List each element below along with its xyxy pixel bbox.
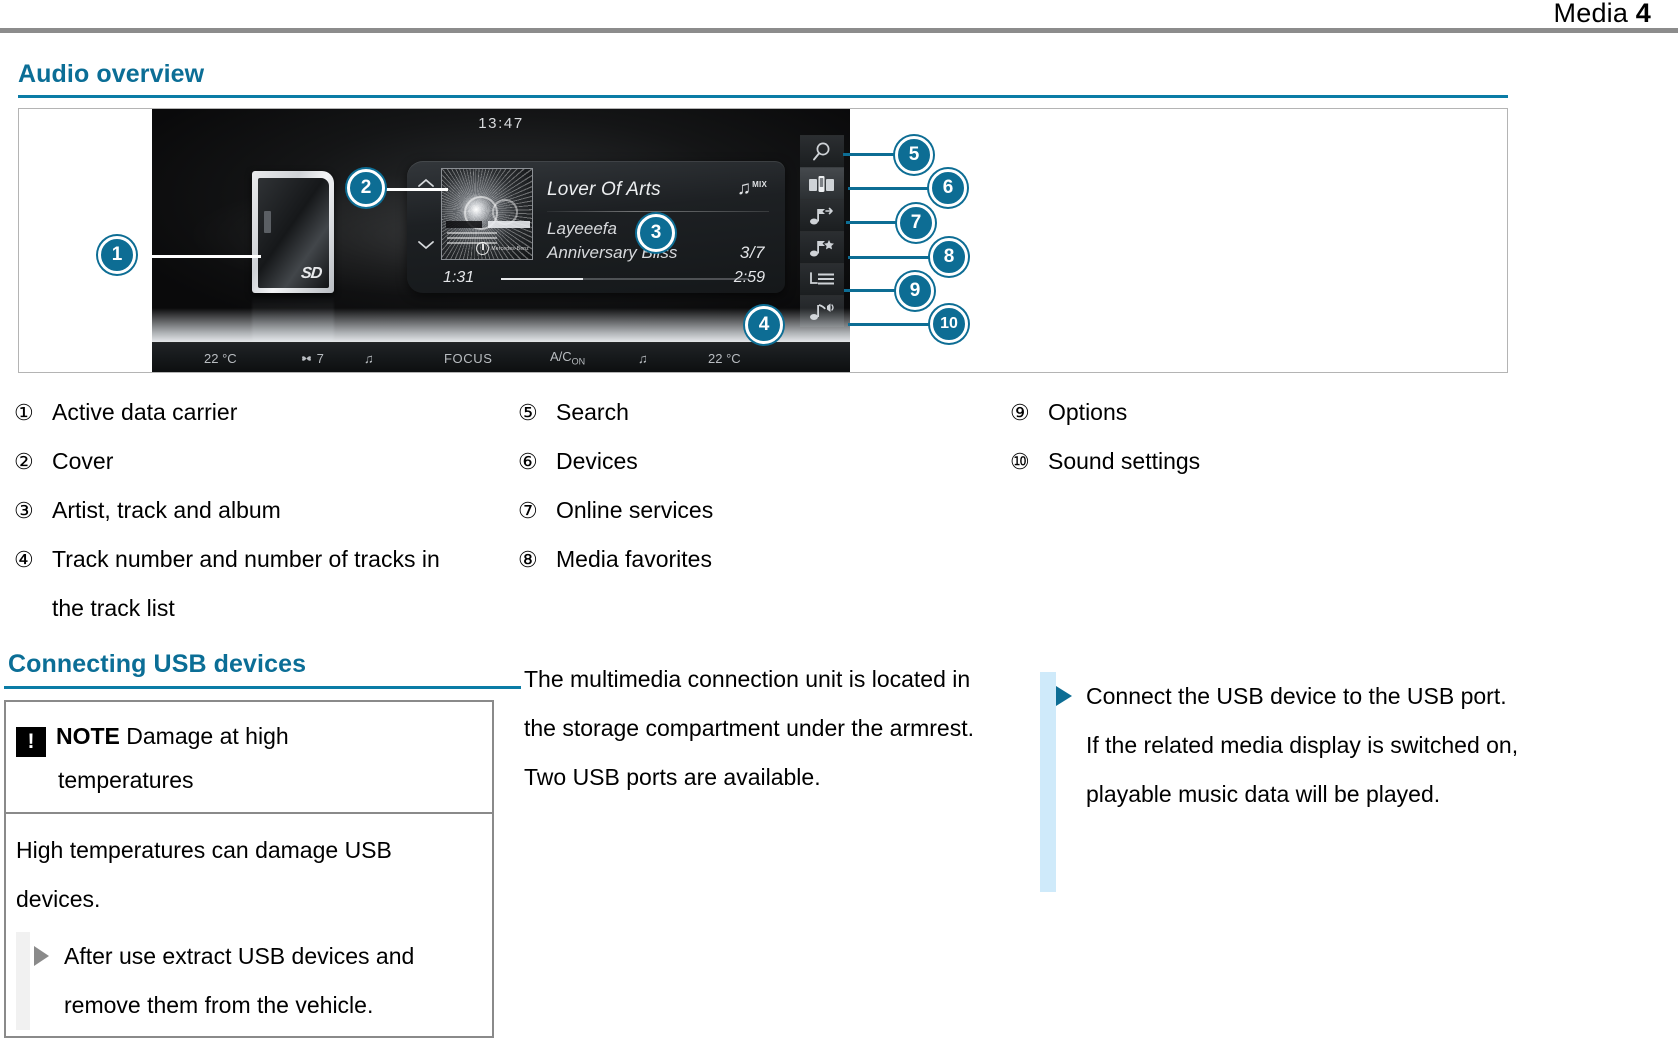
media-panel: Mercedes-Benz Lover Of Arts ♫ MIX Layeee… [407, 161, 785, 293]
callout-6: 6 [929, 169, 967, 207]
callout-5: 5 [895, 136, 933, 174]
legend-label: Search [556, 388, 629, 437]
page-number: 4 [1636, 0, 1651, 28]
legend-label: Options [1048, 388, 1127, 437]
legend-number: ③ [14, 486, 52, 535]
music-note-icon: ♫ [737, 179, 751, 198]
media-favorites-icon[interactable] [800, 231, 844, 263]
note-title-line-1: Damage at high [126, 723, 288, 749]
legend-label: Track number and number of tracks in [52, 535, 440, 584]
fan-level-left: 7 [300, 351, 324, 366]
note-box-body: High temperatures can damage USB devices… [6, 814, 492, 1036]
right-column-action-line-1: Connect the USB device to the USB port. [1086, 672, 1520, 721]
legend-number: ④ [14, 535, 52, 584]
section-title-connecting-usb: Connecting USB devices [8, 650, 306, 679]
legend-label-continuation: the track list [52, 584, 440, 633]
cover-art-bar-light [488, 221, 530, 228]
time-elapsed: 1:31 [443, 269, 474, 287]
album-cover-art: Mercedes-Benz [441, 168, 533, 260]
callout-1: 1 [98, 236, 136, 274]
sd-card-icon: SD [252, 171, 334, 293]
online-services-icon[interactable] [800, 199, 844, 231]
legend-item: ⑦ Online services [518, 486, 998, 535]
note-box-header: !NOTE Damage at high temperatures [6, 702, 492, 814]
legend-label: Online services [556, 486, 713, 535]
legend-label: Media favorites [556, 535, 712, 584]
legend-item: ⑩ Sound settings [1010, 437, 1490, 486]
legend-label: Active data carrier [52, 388, 237, 437]
legend-column-3: ⑨ Options ⑩ Sound settings [1010, 388, 1490, 486]
section-title-audio-overview: Audio overview [18, 60, 204, 89]
legend-label: Devices [556, 437, 638, 486]
ac-status: A/CON [550, 349, 585, 367]
callout-2: 2 [347, 169, 385, 207]
running-head: Media 4 [1554, 0, 1651, 29]
sd-logo: SD [300, 265, 322, 283]
climate-temp-right: 22 °C [708, 351, 741, 366]
devices-icon[interactable] [800, 167, 844, 199]
running-head-label: Media [1554, 0, 1629, 28]
mercedes-star-icon [476, 242, 489, 255]
legend-number: ⑤ [518, 388, 556, 437]
ac-state: ON [572, 357, 586, 367]
leader-line-1 [133, 255, 261, 258]
section-rule-audio-overview [18, 95, 1508, 98]
middle-column-paragraph: The multimedia connection unit is locate… [524, 655, 994, 802]
legend-number: ⑧ [518, 535, 556, 584]
legend-number: ② [14, 437, 52, 486]
action-triangle-icon [1056, 686, 1072, 706]
legend-item: ⑨ Options [1010, 388, 1490, 437]
page-header: Media 4 [0, 0, 1678, 30]
leader-line-2 [386, 188, 448, 191]
legend-label: Sound settings [1048, 437, 1200, 486]
airflow-icon-right[interactable]: ♫ [638, 351, 648, 366]
note-title-line-2: temperatures [58, 758, 482, 802]
legend-number: ⑥ [518, 437, 556, 486]
legend-number: ⑨ [1010, 388, 1048, 437]
mercedes-benz-wordmark: Mercedes-Benz [491, 246, 529, 252]
infotainment-display: 13:47 SD Speicherkarte [152, 109, 850, 372]
panel-divider [547, 211, 769, 212]
note-box: !NOTE Damage at high temperatures High t… [4, 700, 494, 1038]
callout-10: 10 [930, 305, 968, 343]
callout-9: 9 [896, 272, 934, 310]
chevron-down-icon[interactable] [417, 239, 435, 251]
header-rule [0, 28, 1678, 33]
progress-bar[interactable] [501, 278, 749, 280]
legend-column-1: ① Active data carrier ② Cover ③ Artist, … [14, 388, 534, 633]
mix-mode-icon: ♫ MIX [737, 179, 767, 198]
sd-card-notch [264, 211, 271, 233]
progress-bar-fill [501, 278, 583, 280]
note-action-text: After use extract USB devices and remove… [64, 943, 414, 1018]
search-icon[interactable] [800, 135, 844, 167]
focus-label: FOCUS [444, 351, 493, 366]
ac-label: A/C [550, 349, 572, 364]
legend-number: ⑩ [1010, 437, 1048, 486]
track-stepper[interactable] [413, 169, 439, 267]
cover-art-bar-dark [446, 221, 482, 228]
section-rule-connecting-usb [4, 686, 521, 689]
legend-item: ⑧ Media favorites [518, 535, 998, 584]
options-icon[interactable] [800, 263, 844, 295]
airflow-icon-left[interactable]: ♫ [364, 351, 374, 366]
note-action-step: After use extract USB devices and remove… [16, 932, 482, 1030]
track-count: 3/7 [740, 243, 765, 263]
callout-4: 4 [745, 306, 783, 344]
callout-3: 3 [637, 214, 675, 252]
legend-item: ③ Artist, track and album [14, 486, 534, 535]
legend-label: Cover [52, 437, 113, 486]
callout-7: 7 [897, 204, 935, 242]
legend-number: ⑦ [518, 486, 556, 535]
legend-item: ⑤ Search [518, 388, 998, 437]
callout-8: 8 [930, 238, 968, 276]
climate-status-bar: 22 °C ♫ 7 FOCUS A/CON ♫ 22 °C [152, 342, 850, 372]
note-body-text: High temperatures can damage USB devices… [16, 826, 482, 924]
legend-item: ② Cover [14, 437, 534, 486]
legend-number: ① [14, 388, 52, 437]
display-icon-rail [800, 135, 844, 327]
right-column-action-line-2: If the related media display is switched… [1086, 721, 1520, 819]
note-kind: NOTE [56, 723, 120, 749]
legend-item: ④ Track number and number of tracks in t… [14, 535, 534, 633]
legend-item: ⑥ Devices [518, 437, 998, 486]
mix-label: MIX [752, 180, 767, 189]
climate-temp-left: 22 °C [204, 351, 237, 366]
warning-icon: ! [16, 727, 46, 757]
legend-column-2: ⑤ Search ⑥ Devices ⑦ Online services ⑧ M… [518, 388, 998, 584]
track-artist: Layeeefa [547, 219, 617, 239]
right-column-action-block: Connect the USB device to the USB port. … [1040, 672, 1520, 892]
legend-label: Artist, track and album [52, 486, 281, 535]
mercedes-benz-logo: Mercedes-Benz [476, 242, 529, 255]
track-title: Lover Of Arts [547, 179, 661, 201]
fan-level-value-left: 7 [317, 351, 324, 366]
display-clock: 13:47 [152, 115, 850, 132]
action-accent-bar [1040, 672, 1056, 892]
legend-item: ① Active data carrier [14, 388, 534, 437]
action-triangle-icon [34, 946, 49, 966]
